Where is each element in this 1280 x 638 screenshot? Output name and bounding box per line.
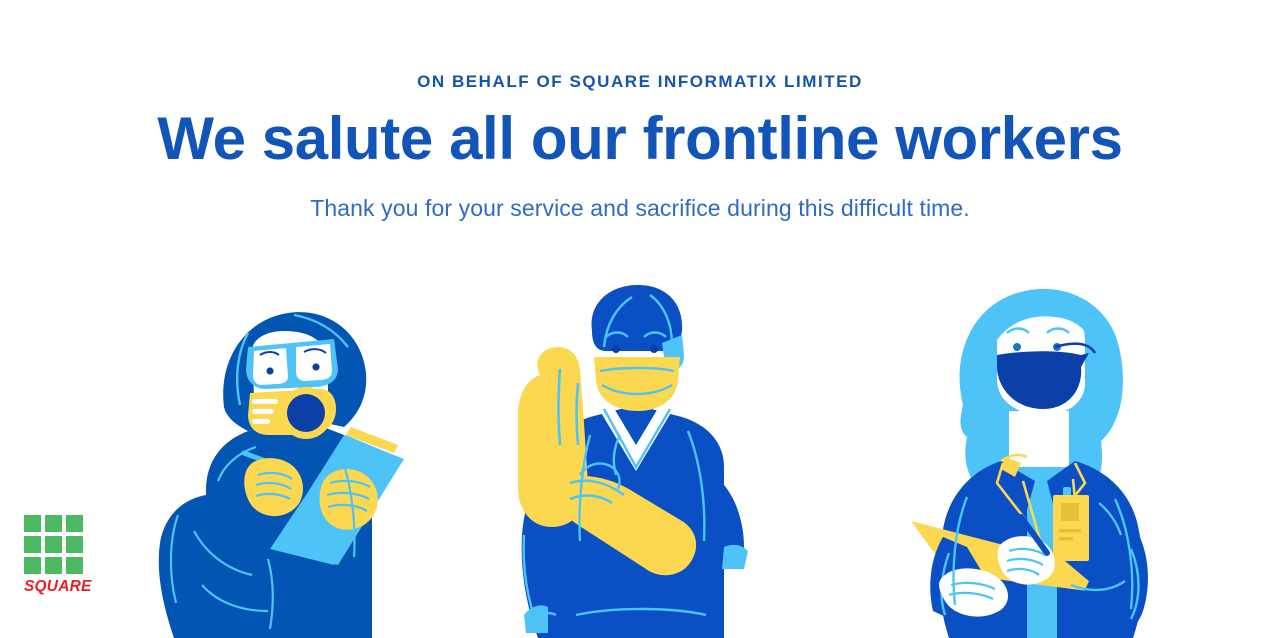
- surgeon-illustration: [492, 285, 780, 638]
- poster-page: ON BEHALF OF SQUARE INFORMATIX LIMITED W…: [0, 0, 1280, 638]
- eye-left: [266, 367, 273, 374]
- sleeve-cuff-accent: [524, 605, 548, 633]
- eyebrow-text: ON BEHALF OF SQUARE INFORMATIX LIMITED: [0, 72, 1280, 92]
- subtitle-text: Thank you for your service and sacrifice…: [0, 194, 1280, 224]
- eye-right: [312, 363, 319, 370]
- figure-hazmat-worker: [148, 285, 404, 638]
- neck: [1009, 411, 1069, 467]
- illustration-row: [0, 285, 1280, 638]
- hazmat-worker-illustration: [148, 285, 404, 638]
- doctor-woman-illustration: [905, 285, 1185, 638]
- respirator-icon: [248, 387, 336, 439]
- goggles-icon: [246, 339, 338, 389]
- face-mask-yellow: [594, 357, 680, 411]
- figure-surgeon: [492, 285, 780, 638]
- eye-left: [1013, 343, 1021, 351]
- page-title: We salute all our frontline workers: [0, 104, 1280, 173]
- header-block: ON BEHALF OF SQUARE INFORMATIX LIMITED W…: [0, 0, 1280, 224]
- eye-left: [612, 345, 620, 353]
- figure-doctor-woman: [905, 285, 1185, 638]
- eye-right: [650, 345, 658, 353]
- id-badge: [1053, 487, 1089, 561]
- right-cuff-accent: [722, 545, 748, 569]
